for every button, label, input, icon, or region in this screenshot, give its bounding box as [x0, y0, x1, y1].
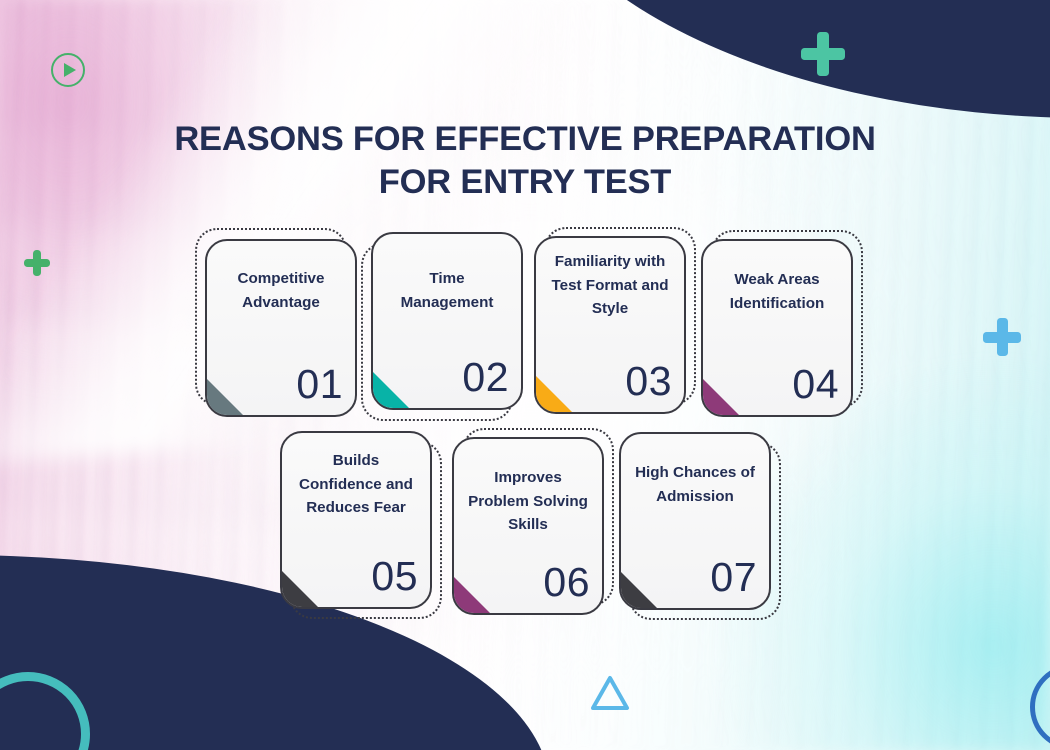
card-01[interactable]: Competitive Advantage 01 [205, 239, 357, 417]
plus-icon-right [983, 318, 1021, 356]
card-02[interactable]: Time Management 02 [371, 232, 523, 410]
card-05[interactable]: Builds Confidence and Reduces Fear 05 [280, 431, 432, 609]
play-circle-icon [51, 53, 85, 87]
card-number-04: 04 [792, 359, 839, 409]
card-corner-triangle-04 [703, 379, 739, 415]
card-number-07: 07 [710, 552, 757, 602]
card-label-04: Weak Areas Identification [712, 268, 842, 315]
card-06[interactable]: Improves Problem Solving Skills 06 [452, 437, 604, 615]
triangle-outline-icon [589, 674, 631, 717]
card-label-02: Time Management [382, 267, 512, 314]
card-corner-triangle-05 [282, 571, 318, 607]
plus-icon-left [24, 250, 50, 276]
card-label-01: Competitive Advantage [216, 267, 346, 314]
card-label-06: Improves Problem Solving Skills [463, 466, 593, 537]
card-corner-triangle-03 [536, 376, 572, 412]
card-corner-triangle-07 [621, 572, 657, 608]
slide-canvas: REASONS FOR EFFECTIVE PREPARATION FOR EN… [0, 0, 1050, 750]
card-number-03: 03 [625, 356, 672, 406]
card-04[interactable]: Weak Areas Identification 04 [701, 239, 853, 417]
card-number-01: 01 [296, 359, 343, 409]
card-corner-triangle-06 [454, 577, 490, 613]
card-label-03: Familiarity with Test Format and Style [545, 250, 675, 321]
card-number-02: 02 [462, 352, 509, 402]
card-number-05: 05 [371, 551, 418, 601]
card-number-06: 06 [543, 557, 590, 607]
card-07[interactable]: High Chances of Admission 07 [619, 432, 771, 610]
card-label-07: High Chances of Admission [630, 461, 760, 508]
plus-icon-top-right [801, 32, 845, 76]
card-03[interactable]: Familiarity with Test Format and Style 0… [534, 236, 686, 414]
card-corner-triangle-02 [373, 372, 409, 408]
card-label-05: Builds Confidence and Reduces Fear [291, 449, 421, 520]
card-corner-triangle-01 [207, 379, 243, 415]
page-title: REASONS FOR EFFECTIVE PREPARATION FOR EN… [0, 118, 1050, 204]
